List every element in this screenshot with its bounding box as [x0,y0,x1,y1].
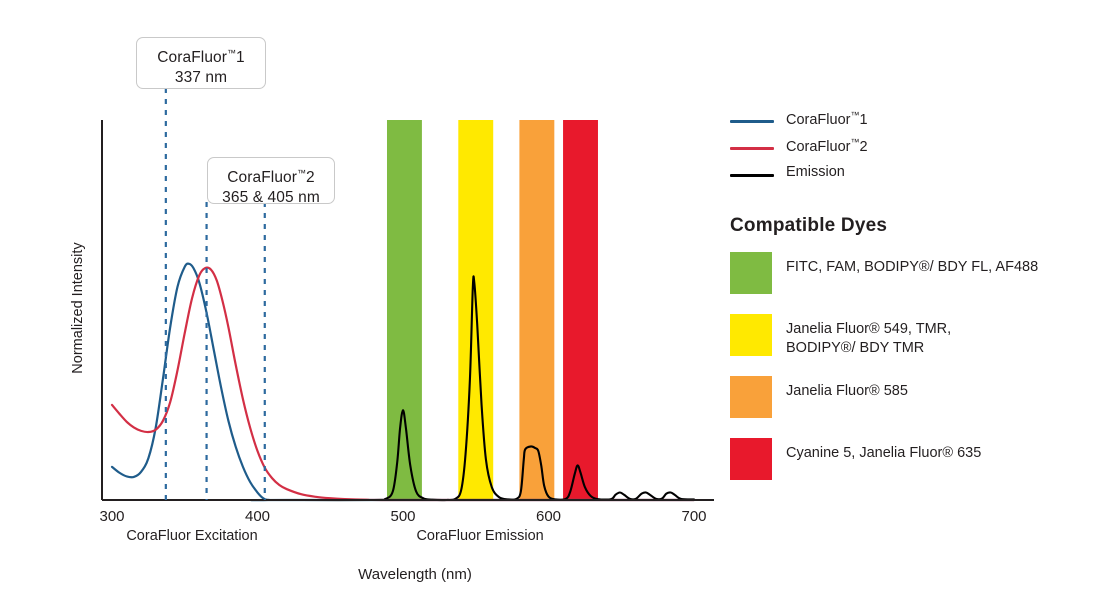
legend-line-label-0: CoraFluor™1 [786,110,868,128]
dye-row-1[interactable]: Janelia Fluor® 549, TMR, BODIPY®/ BDY TM… [730,314,1100,364]
dye-row-0[interactable]: FITC, FAM, BODIPY®/ BDY FL, AF488 [730,252,1100,302]
callout-corafluor-1-name: CoraFluor™1 [137,43,265,68]
x-tick-600: 600 [519,508,579,525]
x-tick-400: 400 [228,508,288,525]
legend-row-2[interactable]: Emission [730,162,1100,189]
x-tick-500: 500 [373,508,433,525]
y-axis-title: Normalized Intensity [70,208,86,408]
legend-series-list: CoraFluor™1CoraFluor™2Emission [730,108,1100,189]
dye-row-2[interactable]: Janelia Fluor® 585 [730,376,1100,426]
dye-swatch-3 [730,438,772,480]
dye-swatch-0 [730,252,772,294]
orange-band [519,120,554,500]
legend-line-label-2: Emission [786,164,845,180]
green-band [387,120,422,500]
legend-row-0[interactable]: CoraFluor™1 [730,108,1100,135]
dye-label-1: Janelia Fluor® 549, TMR, BODIPY®/ BDY TM… [786,320,951,358]
figure-root: CoraFluor™1 337 nm CoraFluor™2 365 & 405… [0,0,1110,612]
dye-label-2: Janelia Fluor® 585 [786,382,908,401]
x-tick-300: 300 [82,508,142,525]
callout-corafluor-1: CoraFluor™1 337 nm [136,37,266,89]
legend-line-swatch-1 [730,147,774,150]
callout-corafluor-2-name: CoraFluor™2 [208,163,334,188]
dye-label-0: FITC, FAM, BODIPY®/ BDY FL, AF488 [786,258,1038,277]
compatible-dyes-list: FITC, FAM, BODIPY®/ BDY FL, AF488Janelia… [730,252,1100,488]
callout-corafluor-1-value: 337 nm [137,68,265,88]
dye-swatch-2 [730,376,772,418]
series-curve-emission [301,276,694,500]
callout-corafluor-2-value: 365 & 405 nm [208,188,334,208]
callout-corafluor-2: CoraFluor™2 365 & 405 nm [207,157,335,204]
region-label-excitation: CoraFluor Excitation [82,528,302,544]
dye-row-3[interactable]: Cyanine 5, Janelia Fluor® 635 [730,438,1100,488]
compatible-dyes-heading: Compatible Dyes [730,215,1100,237]
legend-line-swatch-2 [730,174,774,177]
red-band [563,120,598,500]
legend-panel: CoraFluor™1CoraFluor™2Emission Compatibl… [730,108,1100,500]
legend-row-1[interactable]: CoraFluor™2 [730,135,1100,162]
legend-line-label-1: CoraFluor™2 [786,137,868,155]
dye-swatch-1 [730,314,772,356]
legend-line-swatch-0 [730,120,774,123]
chart-panel: CoraFluor™1 337 nm CoraFluor™2 365 & 405… [0,0,720,612]
x-tick-700: 700 [664,508,724,525]
dye-label-3: Cyanine 5, Janelia Fluor® 635 [786,444,981,463]
region-label-emission: CoraFluor Emission [370,528,590,544]
x-axis-title: Wavelength (nm) [240,566,590,583]
